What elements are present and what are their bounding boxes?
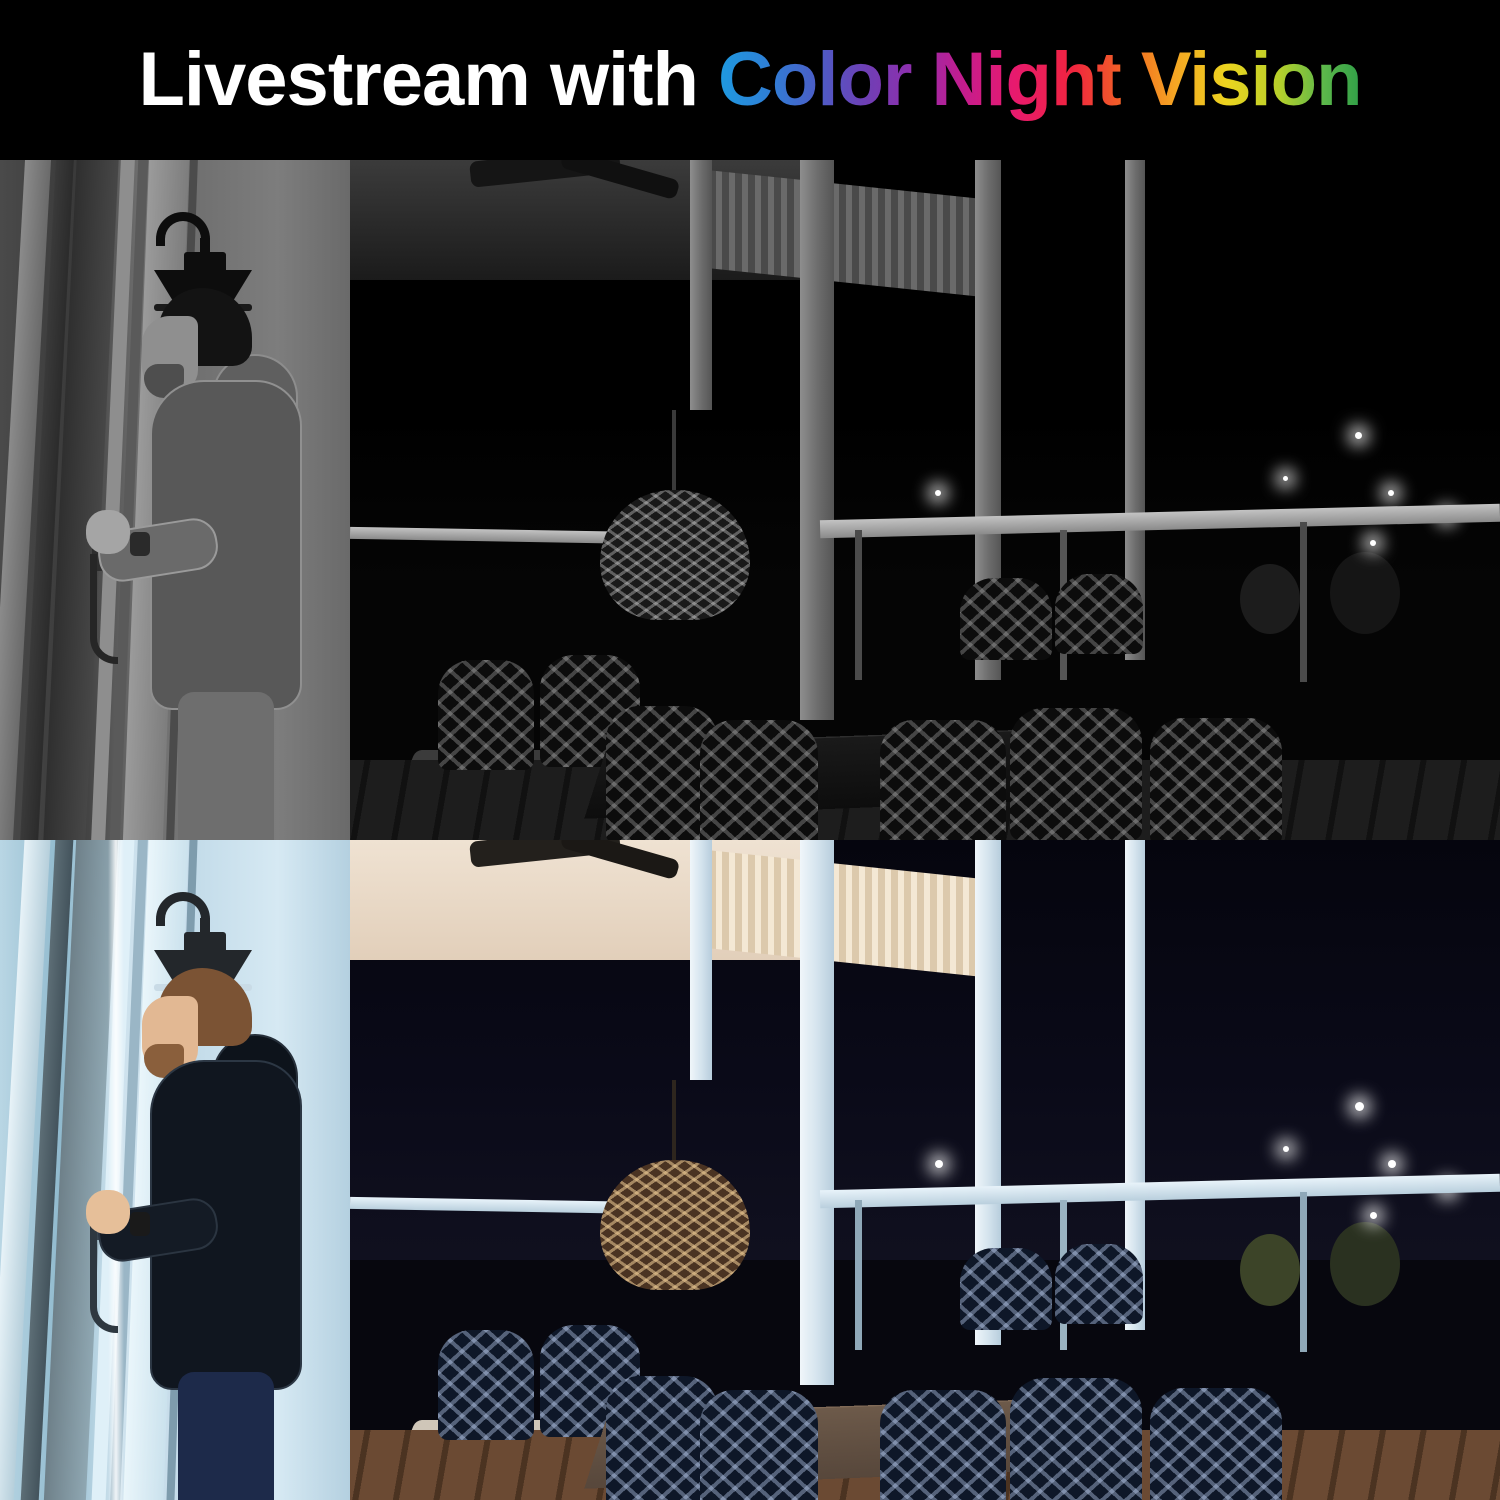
person-watch <box>130 1212 150 1236</box>
patio-chair <box>1150 718 1282 840</box>
porch-post <box>690 840 712 1080</box>
egg-chair-chain <box>672 1080 676 1166</box>
page-title-accent: Color Night Vision <box>718 37 1361 122</box>
patio-chair <box>438 1330 534 1440</box>
light-sparkle <box>935 1160 943 1168</box>
patio-chair <box>1150 1388 1282 1500</box>
patio-chair <box>700 720 818 840</box>
night-vision-comparison-promo: Livestream with Color Night Vision <box>0 0 1500 1500</box>
patio-chair <box>700 1390 818 1500</box>
patio-chair <box>1010 1378 1142 1500</box>
light-sparkle <box>1370 540 1376 546</box>
hanging-egg-chair <box>600 1160 750 1290</box>
person-legs <box>178 692 274 840</box>
page-title-plain: Livestream with <box>138 37 718 122</box>
bare-tree <box>1240 564 1300 634</box>
light-sparkle <box>935 490 941 496</box>
person-hand <box>86 510 130 554</box>
person-at-door <box>120 288 320 840</box>
patio-chair <box>960 1248 1052 1330</box>
railing-baluster <box>1300 522 1307 682</box>
porch-post <box>690 160 712 410</box>
scene-color <box>0 840 1500 1500</box>
person-at-door <box>120 968 320 1500</box>
person-legs <box>178 1372 274 1500</box>
scene-traditional <box>0 160 1500 840</box>
light-sparkle <box>1355 432 1362 439</box>
patio-chair <box>1055 574 1143 654</box>
hanging-egg-chair <box>600 490 750 620</box>
page-title: Livestream with Color Night Vision <box>138 42 1361 118</box>
panel-color-night-vision: Color Night Vision <box>0 840 1500 1500</box>
porch-post <box>800 840 834 1385</box>
light-sparkle <box>1283 476 1288 481</box>
bare-tree <box>1330 1222 1400 1306</box>
patio-chair <box>880 1390 1006 1500</box>
railing-baluster <box>1300 1192 1307 1352</box>
patio-chair <box>1010 708 1142 840</box>
person-watch <box>130 532 150 556</box>
patio-chair <box>1055 1244 1143 1324</box>
patio-chair <box>880 720 1006 840</box>
person-hand <box>86 1190 130 1234</box>
light-sparkle <box>1370 1212 1377 1219</box>
patio-chair <box>438 660 534 770</box>
bare-tree <box>1330 552 1400 634</box>
light-sparkle <box>1388 490 1394 496</box>
patio-chair <box>960 578 1052 660</box>
railing-baluster <box>855 530 862 680</box>
light-sparkle <box>1283 1146 1289 1152</box>
light-sparkle <box>1355 1102 1364 1111</box>
panel-traditional-night-vision: Traditional Night Vision <box>0 160 1500 840</box>
promo-header: Livestream with Color Night Vision <box>0 0 1500 160</box>
porch-post <box>800 160 834 720</box>
bare-tree <box>1240 1234 1300 1306</box>
egg-chair-chain <box>672 410 676 496</box>
light-sparkle <box>1388 1160 1396 1168</box>
railing-baluster <box>855 1200 862 1350</box>
